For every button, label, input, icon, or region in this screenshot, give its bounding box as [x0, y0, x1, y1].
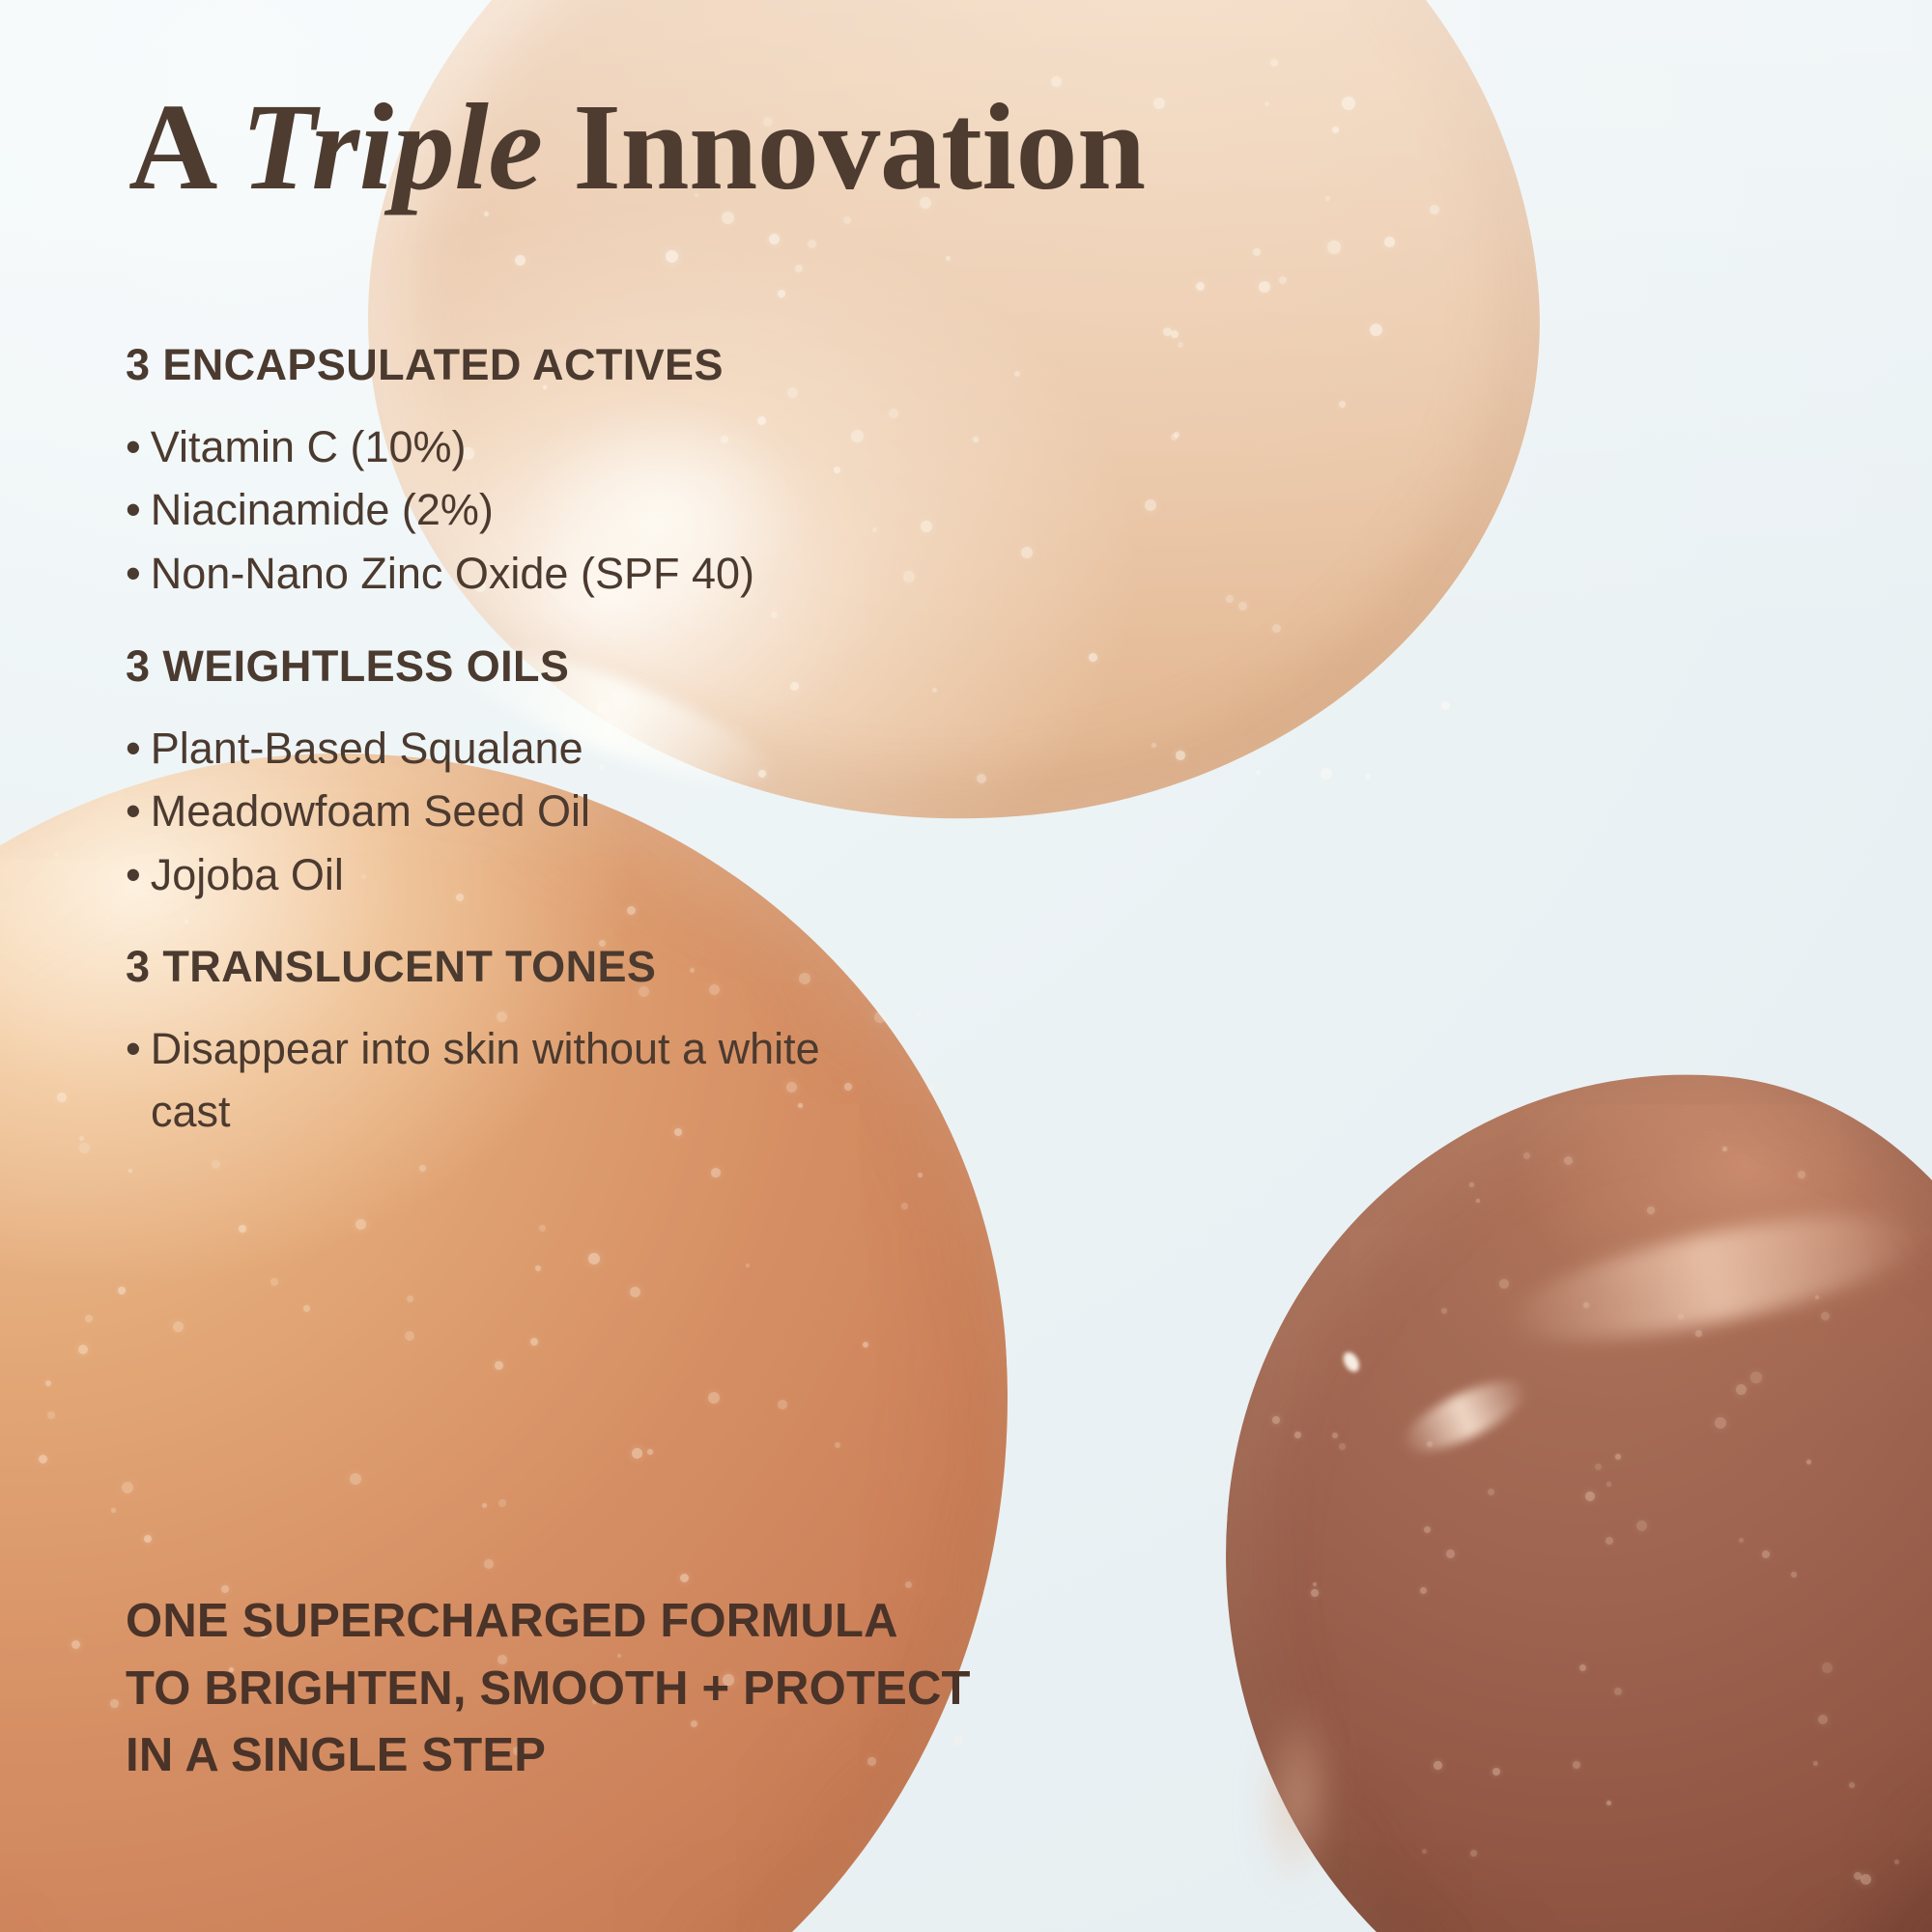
section-heading: 3 TRANSLUCENT TONES [126, 942, 879, 992]
section-heading: 3 WEIGHTLESS OILS [126, 641, 590, 692]
footer-tagline: ONE SUPERCHARGED FORMULA TO BRIGHTEN, SM… [126, 1588, 971, 1790]
bullet-icon: • [126, 724, 151, 773]
bullet-icon: • [126, 786, 151, 836]
title-part-1: A [128, 78, 241, 215]
list-item-label: Jojoba Oil [151, 850, 344, 899]
footer-line-3: IN A SINGLE STEP [126, 1722, 971, 1790]
list-item: •Jojoba Oil [126, 843, 590, 906]
page-title: A Triple Innovation [128, 85, 1146, 209]
bullet-list: •Vitamin C (10%) •Niacinamide (2%) •Non-… [126, 415, 754, 605]
bullet-icon: • [126, 485, 151, 534]
list-item-label: Vitamin C (10%) [151, 422, 467, 471]
list-item: •Meadowfoam Seed Oil [126, 780, 590, 842]
list-item-label: Plant-Based Squalane [151, 724, 583, 773]
bullet-icon: • [126, 850, 151, 899]
bullet-icon: • [126, 549, 151, 598]
list-item-label: Non-Nano Zinc Oxide (SPF 40) [151, 549, 754, 598]
content-layer: A Triple Innovation 3 ENCAPSULATED ACTIV… [0, 0, 1932, 1932]
section-heading: 3 ENCAPSULATED ACTIVES [126, 340, 754, 390]
section-translucent-tones: 3 TRANSLUCENT TONES •Disappear into skin… [126, 942, 879, 1144]
list-item: •Non-Nano Zinc Oxide (SPF 40) [126, 542, 754, 605]
bullet-icon: • [126, 1024, 151, 1073]
list-item-label: Disappear into skin without a white cast [151, 1024, 820, 1136]
bullet-icon: • [126, 422, 151, 471]
section-encapsulated-actives: 3 ENCAPSULATED ACTIVES •Vitamin C (10%) … [126, 340, 754, 605]
bullet-list: •Disappear into skin without a white cas… [126, 1017, 879, 1144]
list-item: •Plant-Based Squalane [126, 717, 590, 780]
footer-line-2: TO BRIGHTEN, SMOOTH + PROTECT [126, 1656, 971, 1723]
list-item: •Vitamin C (10%) [126, 415, 754, 478]
list-item-label: Meadowfoam Seed Oil [151, 786, 590, 836]
bullet-list: •Plant-Based Squalane •Meadowfoam Seed O… [126, 717, 590, 906]
list-item: •Disappear into skin without a white cas… [126, 1017, 879, 1144]
list-item-label: Niacinamide (2%) [151, 485, 494, 534]
section-weightless-oils: 3 WEIGHTLESS OILS •Plant-Based Squalane … [126, 641, 590, 906]
list-item: •Niacinamide (2%) [126, 478, 754, 541]
title-emphasis: Triple [241, 78, 542, 215]
footer-line-1: ONE SUPERCHARGED FORMULA [126, 1588, 971, 1656]
title-part-2: Innovation [543, 78, 1146, 215]
